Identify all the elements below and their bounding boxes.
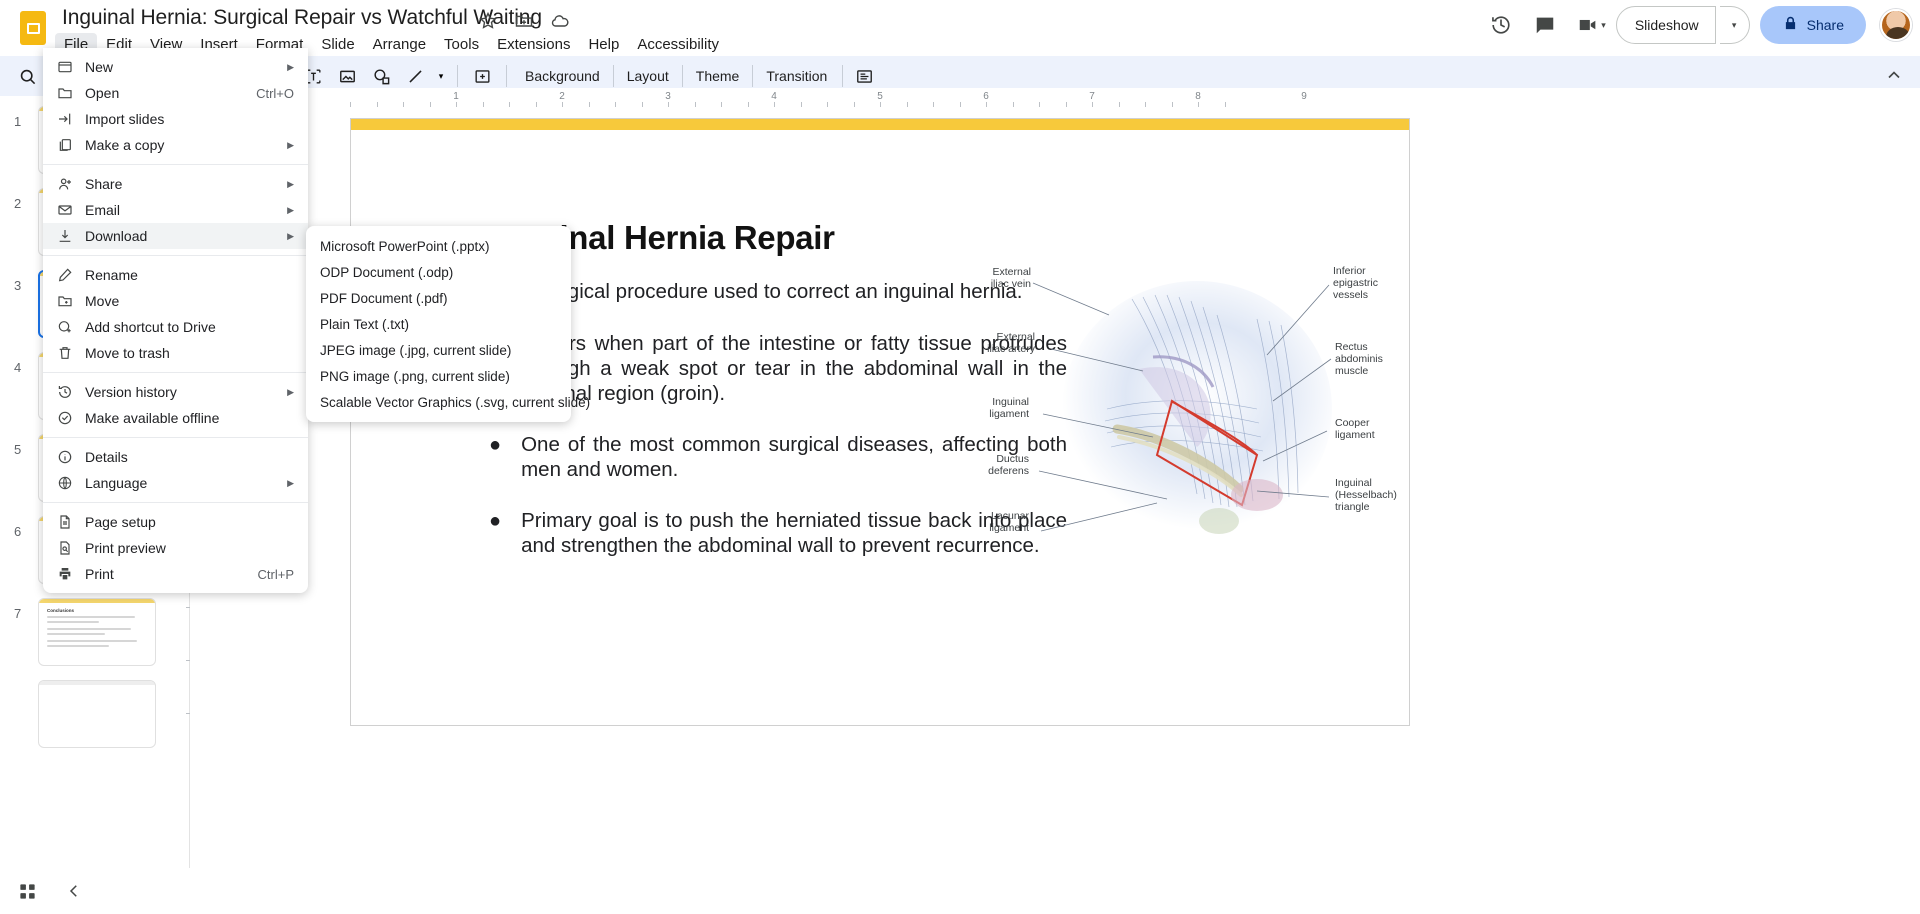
page-title[interactable]: Inguinal Hernia: Surgical Repair vs Watc…	[62, 6, 542, 30]
copy-icon	[57, 137, 79, 153]
submenu-arrow-icon: ▶	[287, 140, 294, 151]
ruler-tick	[1039, 102, 1040, 107]
menu-item-share[interactable]: Share ▶	[43, 171, 308, 197]
line-chevron-down-icon[interactable]: ▾	[432, 61, 450, 91]
shortcut-label: Ctrl+O	[256, 86, 294, 101]
email-icon	[57, 202, 79, 218]
lock-icon	[1782, 15, 1799, 35]
menu-divider	[43, 437, 308, 438]
background-button[interactable]: Background	[514, 63, 611, 89]
ruler-tick-label: 4	[771, 91, 777, 102]
ruler-tick	[403, 102, 404, 107]
ruler-tick	[880, 102, 881, 107]
insert-placeholder-icon[interactable]	[847, 61, 881, 91]
menu-accessibility[interactable]: Accessibility	[628, 33, 728, 56]
ruler-tick-label: 5	[877, 91, 883, 102]
menu-item-print-preview[interactable]: Print preview	[43, 535, 308, 561]
anatomy-label-ductus-deferens: Ductusdeferens	[961, 453, 1029, 477]
list-item[interactable]: 7 Conclusions	[0, 594, 189, 670]
slide-number: 5	[14, 442, 21, 457]
ruler-tick-label: 2	[559, 91, 565, 102]
slide-number: 3	[14, 278, 21, 293]
ruler-tick	[483, 102, 484, 107]
menu-item-make-available-offline[interactable]: Make available offline	[43, 405, 308, 431]
slide-number: 6	[14, 524, 21, 539]
download-option-pdf[interactable]: PDF Document (.pdf)	[306, 285, 571, 311]
ruler-tick	[827, 102, 828, 107]
top-right-actions: ▾ Slideshow ▾ Share	[1481, 5, 1912, 45]
ruler-tick	[1066, 102, 1067, 107]
menu-item-details[interactable]: Details	[43, 444, 308, 470]
ruler-tick	[960, 102, 961, 107]
submenu-arrow-icon: ▶	[287, 231, 294, 242]
ruler-tick-label: 7	[1089, 91, 1095, 102]
ruler-tick	[933, 102, 934, 107]
ruler-tick	[695, 102, 696, 107]
layout-button[interactable]: Layout	[616, 63, 680, 89]
download-option-txt[interactable]: Plain Text (.txt)	[306, 311, 571, 337]
version-history-icon	[57, 384, 79, 400]
menu-help[interactable]: Help	[579, 33, 628, 56]
submenu-arrow-icon: ▶	[287, 62, 294, 73]
menu-item-print[interactable]: Print Ctrl+P	[43, 561, 308, 587]
comment-icon[interactable]	[1525, 5, 1565, 45]
chevron-left-icon[interactable]	[65, 882, 83, 900]
ruler-tick	[1092, 102, 1093, 107]
menu-arrange[interactable]: Arrange	[364, 33, 435, 56]
ruler-tick	[562, 102, 563, 107]
insert-object-icon[interactable]	[465, 61, 499, 91]
print-preview-icon	[57, 540, 79, 556]
menu-slide[interactable]: Slide	[312, 33, 363, 56]
ruler-tick-label: 8	[1195, 91, 1201, 102]
menu-item-download[interactable]: Download ▶	[43, 223, 308, 249]
cloud-saved-icon[interactable]	[550, 11, 570, 31]
thumbnail-title: Conclusions	[47, 608, 147, 613]
ruler-tick	[854, 102, 855, 107]
ruler-tick	[377, 102, 378, 107]
menu-item-move[interactable]: Move	[43, 288, 308, 314]
menu-divider	[43, 255, 308, 256]
grid-view-icon[interactable]	[18, 882, 37, 901]
download-option-png[interactable]: PNG image (.png, current slide)	[306, 363, 571, 389]
shape-icon[interactable]	[364, 61, 398, 91]
menu-extensions[interactable]: Extensions	[488, 33, 579, 56]
line-icon[interactable]	[398, 61, 432, 91]
add-shortcut-icon	[57, 319, 79, 335]
globe-icon	[57, 475, 79, 491]
ruler-tick	[986, 102, 987, 107]
horizontal-ruler[interactable]: 1 2 3 4 5 6 7 8 9	[190, 88, 1920, 110]
import-icon	[57, 111, 79, 127]
new-icon	[57, 59, 79, 75]
offline-icon	[57, 410, 79, 426]
submenu-arrow-icon: ▶	[287, 179, 294, 190]
file-menu-dropdown[interactable]: New ▶ Open Ctrl+O Import slides Make a c…	[43, 48, 308, 593]
ruler-tick	[615, 102, 616, 107]
share-button[interactable]: Share	[1760, 6, 1866, 44]
download-option-odp[interactable]: ODP Document (.odp)	[306, 259, 571, 285]
menu-item-language[interactable]: Language ▶	[43, 470, 308, 496]
anatomy-label-rectus-abdominis-muscle: Rectusabdominismuscle	[1335, 341, 1401, 377]
ruler-tick	[1145, 102, 1146, 107]
rename-pencil-icon	[57, 267, 79, 283]
menu-tools[interactable]: Tools	[435, 33, 488, 56]
transition-button[interactable]: Transition	[755, 63, 838, 89]
anatomy-label-cooper-ligament: Cooperligament	[1335, 417, 1399, 441]
ruler-tick	[1119, 102, 1120, 107]
slide-number: 2	[14, 196, 21, 211]
ruler-tick	[774, 102, 775, 107]
filmstrip-footer	[0, 868, 190, 914]
ruler-tick	[1172, 102, 1173, 107]
anatomy-label-lacunar-ligament: Lacunarligament	[959, 510, 1029, 534]
ruler-tick-label: 3	[665, 91, 671, 102]
menu-item-version-history[interactable]: Version history ▶	[43, 379, 308, 405]
slide-accent-bar	[351, 119, 1409, 130]
bullet-text: A surgical procedure used to correct an …	[521, 279, 1022, 305]
menu-divider	[43, 502, 308, 503]
search-icon[interactable]	[10, 61, 44, 91]
version-history-icon[interactable]	[1481, 5, 1521, 45]
ruler-tick	[456, 102, 457, 107]
ruler-tick	[509, 102, 510, 107]
share-person-icon	[57, 176, 79, 192]
menu-item-import-slides[interactable]: Import slides	[43, 106, 308, 132]
download-submenu[interactable]: Microsoft PowerPoint (.pptx) ODP Documen…	[306, 226, 571, 422]
slide-number: 1	[14, 114, 21, 129]
slide-thumbnail	[38, 680, 156, 748]
folder-icon	[57, 85, 79, 101]
list-item[interactable]	[0, 676, 189, 752]
slideshow-button[interactable]: Slideshow	[1616, 6, 1716, 44]
move-to-folder-icon[interactable]	[514, 11, 534, 31]
bullet-icon: ●	[489, 432, 501, 482]
bullet-icon: ●	[489, 508, 501, 558]
download-option-pptx[interactable]: Microsoft PowerPoint (.pptx)	[306, 233, 571, 259]
page-setup-icon	[57, 514, 79, 530]
ruler-tick	[907, 102, 908, 107]
ruler-tick	[668, 102, 669, 107]
menu-item-new[interactable]: New ▶	[43, 54, 308, 80]
theme-button[interactable]: Theme	[685, 63, 751, 89]
menu-item-rename[interactable]: Rename	[43, 262, 308, 288]
download-option-jpg[interactable]: JPEG image (.jpg, current slide)	[306, 337, 571, 363]
anatomy-label-external-iliac-vein: Externaliliac vein	[969, 266, 1031, 290]
ruler-tick	[589, 102, 590, 107]
printer-icon	[57, 566, 79, 582]
ruler-tick	[748, 102, 749, 107]
ruler-tick	[1013, 102, 1014, 107]
slide-number: 4	[14, 360, 21, 375]
ruler-tick	[536, 102, 537, 107]
collapse-toolbar-icon[interactable]	[1884, 65, 1904, 90]
ruler-tick	[350, 102, 351, 107]
menu-item-email[interactable]: Email ▶	[43, 197, 308, 223]
share-button-label: Share	[1807, 17, 1844, 33]
ruler-tick	[1198, 102, 1199, 107]
menu-item-add-shortcut-to-drive[interactable]: Add shortcut to Drive	[43, 314, 308, 340]
ruler-tick	[642, 102, 643, 107]
image-icon[interactable]	[330, 61, 364, 91]
ruler-tick-label: 1	[453, 91, 459, 102]
current-slide[interactable]: Inguinal Hernia Repair ● A surgical proc…	[350, 118, 1410, 726]
anatomy-label-inguinal-hesselbach-triangle: Inguinal(Hesselbach)triangle	[1335, 477, 1405, 513]
submenu-arrow-icon: ▶	[287, 387, 294, 398]
star-icon[interactable]	[478, 11, 498, 31]
slide-number: 7	[14, 606, 21, 621]
slide-thumbnail: Conclusions	[38, 598, 156, 666]
slideshow-options-chevron-down-icon[interactable]: ▾	[1720, 6, 1750, 44]
submenu-arrow-icon: ▶	[287, 478, 294, 489]
ruler-tick	[1225, 102, 1226, 107]
menu-item-page-setup[interactable]: Page setup	[43, 509, 308, 535]
anatomy-label-inferior-epigastric-vessels: Inferiorepigastricvessels	[1333, 265, 1399, 301]
submenu-arrow-icon: ▶	[287, 205, 294, 216]
menu-item-move-to-trash[interactable]: Move to trash	[43, 340, 308, 366]
avatar[interactable]	[1880, 9, 1912, 41]
shortcut-label: Ctrl+P	[258, 567, 294, 582]
anatomy-label-external-iliac-artery: Externaliliac artery	[963, 331, 1035, 355]
title-icon-group	[478, 11, 570, 31]
ruler-tick	[721, 102, 722, 107]
menu-item-make-a-copy[interactable]: Make a copy ▶	[43, 132, 308, 158]
anatomy-label-inguinal-ligament: Inguinalligament	[963, 396, 1029, 420]
download-option-svg[interactable]: Scalable Vector Graphics (.svg, current …	[306, 389, 571, 415]
slides-app-window: Inguinal Hernia: Surgical Repair vs Watc…	[0, 0, 1920, 914]
info-icon	[57, 449, 79, 465]
move-folder-icon	[57, 293, 79, 309]
menu-divider	[43, 372, 308, 373]
ruler-tick-label: 9	[1301, 91, 1307, 102]
ruler-tick-label: 6	[983, 91, 989, 102]
ruler-tick	[430, 102, 431, 107]
inguinal-region-anatomy-diagram[interactable]: Externaliliac vein Externaliliac artery …	[957, 259, 1397, 569]
ruler-tick	[801, 102, 802, 107]
trash-icon	[57, 345, 79, 361]
slides-logo-icon[interactable]	[14, 9, 52, 47]
menu-item-open[interactable]: Open Ctrl+O	[43, 80, 308, 106]
meet-video-icon[interactable]: ▾	[1569, 5, 1612, 45]
download-icon	[57, 228, 79, 244]
menu-divider	[43, 164, 308, 165]
